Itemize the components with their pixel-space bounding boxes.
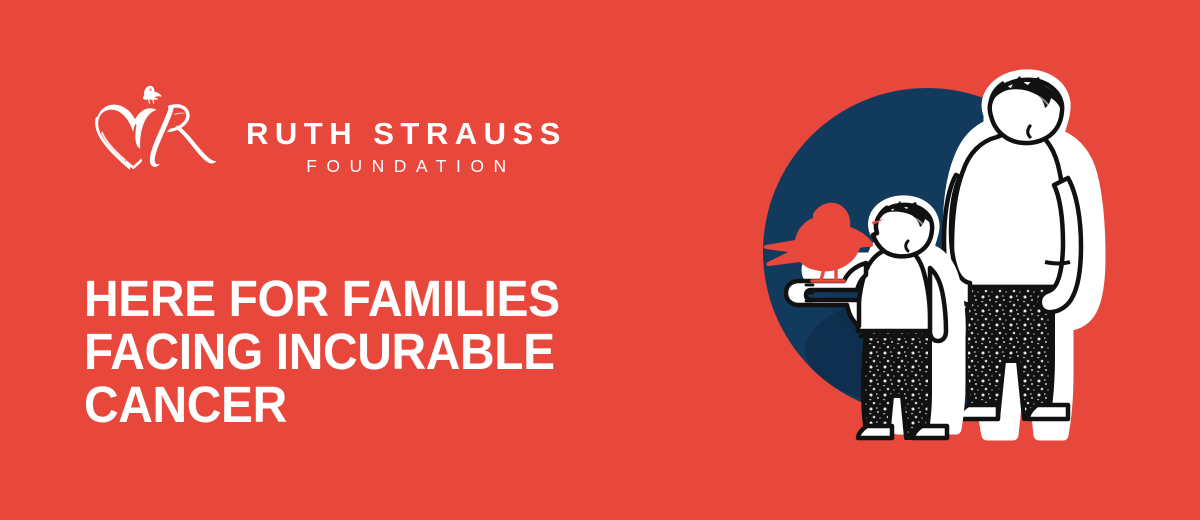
headline: HERE FOR FAMILIES FACING INCURABLE CANCE…: [84, 272, 560, 431]
logo-lockup[interactable]: RUTH STRAUSS FOUNDATION: [82, 84, 567, 184]
illustration-adult-and-child-with-robin: [700, 0, 1200, 520]
headline-line-1: HERE FOR FAMILIES: [84, 272, 560, 325]
logo-wordmark: RUTH STRAUSS FOUNDATION: [246, 92, 567, 176]
child-shoe-right: [913, 426, 947, 438]
wordmark-ruth-strauss: RUTH STRAUSS: [246, 118, 567, 149]
child-shoe-left: [858, 426, 892, 438]
headline-line-2: FACING INCURABLE: [84, 325, 560, 378]
adult-shoe-right: [1028, 405, 1068, 419]
banner: RUTH STRAUSS FOUNDATION HERE FOR FAMILIE…: [0, 0, 1200, 520]
wordmark-foundation: FOUNDATION: [297, 158, 515, 176]
banner-left-content: RUTH STRAUSS FOUNDATION HERE FOR FAMILIE…: [0, 0, 730, 520]
heart-r-monogram-with-bird-icon: [82, 84, 232, 184]
headline-line-3: CANCER: [84, 378, 560, 431]
illustration-svg: [700, 0, 1200, 520]
